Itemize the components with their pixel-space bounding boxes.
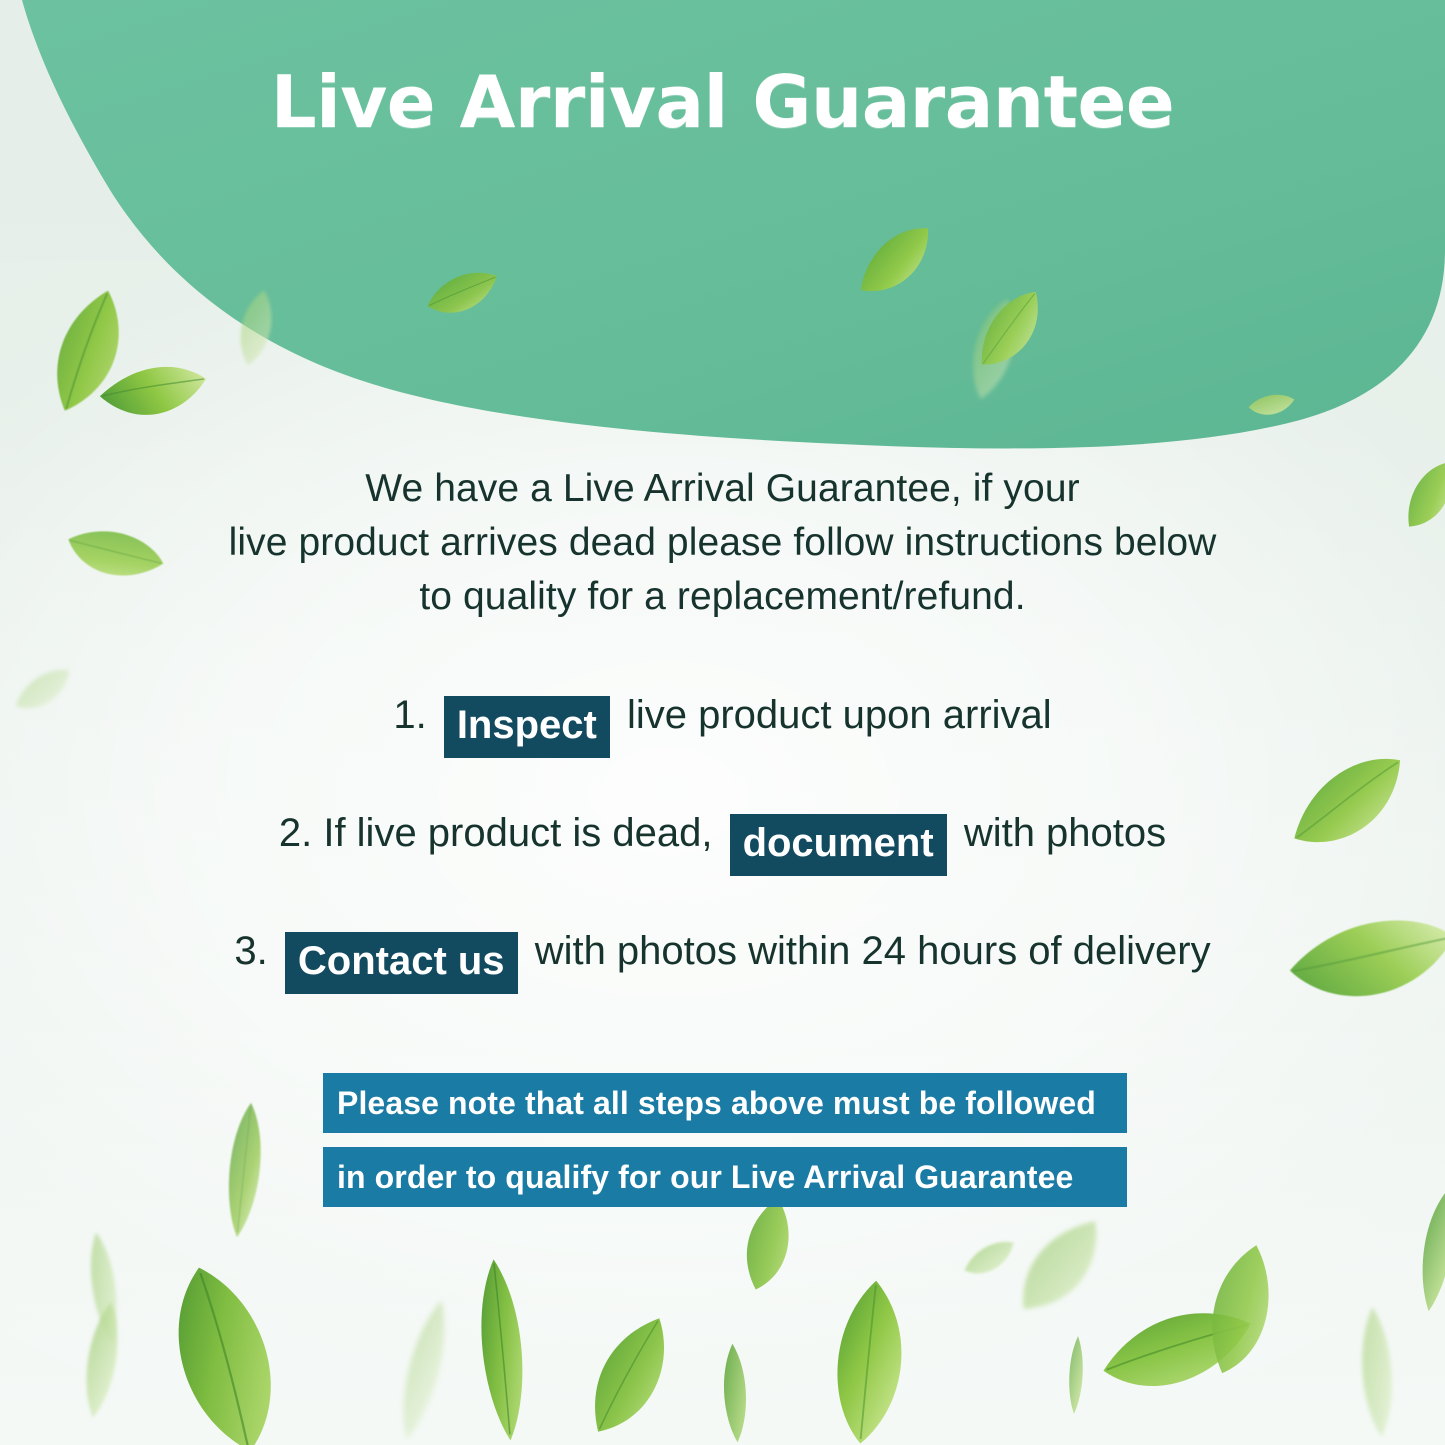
leaf-icon [1406, 1186, 1445, 1319]
step-highlight-contact-us: Contact us [285, 932, 518, 994]
step-number: 1. [393, 693, 426, 737]
leaf-icon [1084, 1264, 1260, 1445]
footer-note-line-2: in order to qualify for our Live Arrival… [323, 1147, 1127, 1207]
page-title: Live Arrival Guarantee [0, 66, 1445, 138]
footer-note-line-1: Please note that all steps above must be… [323, 1073, 1127, 1133]
intro-line-2: live product arrives dead please follow … [0, 516, 1445, 570]
live-arrival-guarantee-poster: Live Arrival Guarantee [0, 0, 1445, 1445]
step-text-after: with photos within 24 hours of delivery [535, 929, 1211, 973]
leaf-icon [379, 1286, 468, 1445]
intro-line-3: to quality for a replacement/refund. [0, 570, 1445, 624]
step-highlight-inspect: Inspect [444, 696, 610, 758]
step-item-2: 2. If live product is dead, document wit… [0, 798, 1445, 916]
leaf-icon [460, 1252, 542, 1445]
leaf-icon [958, 1233, 1022, 1290]
leaf-icon [78, 1228, 130, 1348]
step-text-after: live product upon arrival [627, 693, 1052, 737]
step-item-1: 1. Inspect live product upon arrival [0, 680, 1445, 798]
leaf-icon [210, 1093, 277, 1248]
leaf-icon [1001, 1210, 1119, 1338]
step-text-after: with photos [964, 811, 1166, 855]
step-highlight-document: document [730, 814, 947, 876]
leaf-icon [562, 1309, 700, 1445]
step-item-3: 3. Contact us with photos within 24 hour… [0, 916, 1445, 1034]
step-text-before: If live product is dead, [323, 811, 712, 855]
steps-list: 1. Inspect live product upon arrival 2. … [0, 680, 1445, 1034]
intro-paragraph: We have a Live Arrival Guarantee, if you… [0, 462, 1445, 624]
step-number: 3. [234, 929, 267, 973]
leaf-icon [1063, 1329, 1090, 1420]
intro-line-1: We have a Live Arrival Guarantee, if you… [0, 462, 1445, 516]
leaf-icon [802, 1274, 929, 1445]
leaf-icon [1165, 1235, 1319, 1398]
step-number: 2. [279, 811, 312, 855]
header-banner: Live Arrival Guarantee [0, 0, 1445, 470]
leaf-icon [715, 1339, 755, 1445]
leaf-icon [1347, 1294, 1407, 1445]
leaf-icon [130, 1248, 313, 1445]
footer-note: Please note that all steps above must be… [323, 1073, 1127, 1207]
leaf-icon [67, 1287, 136, 1433]
